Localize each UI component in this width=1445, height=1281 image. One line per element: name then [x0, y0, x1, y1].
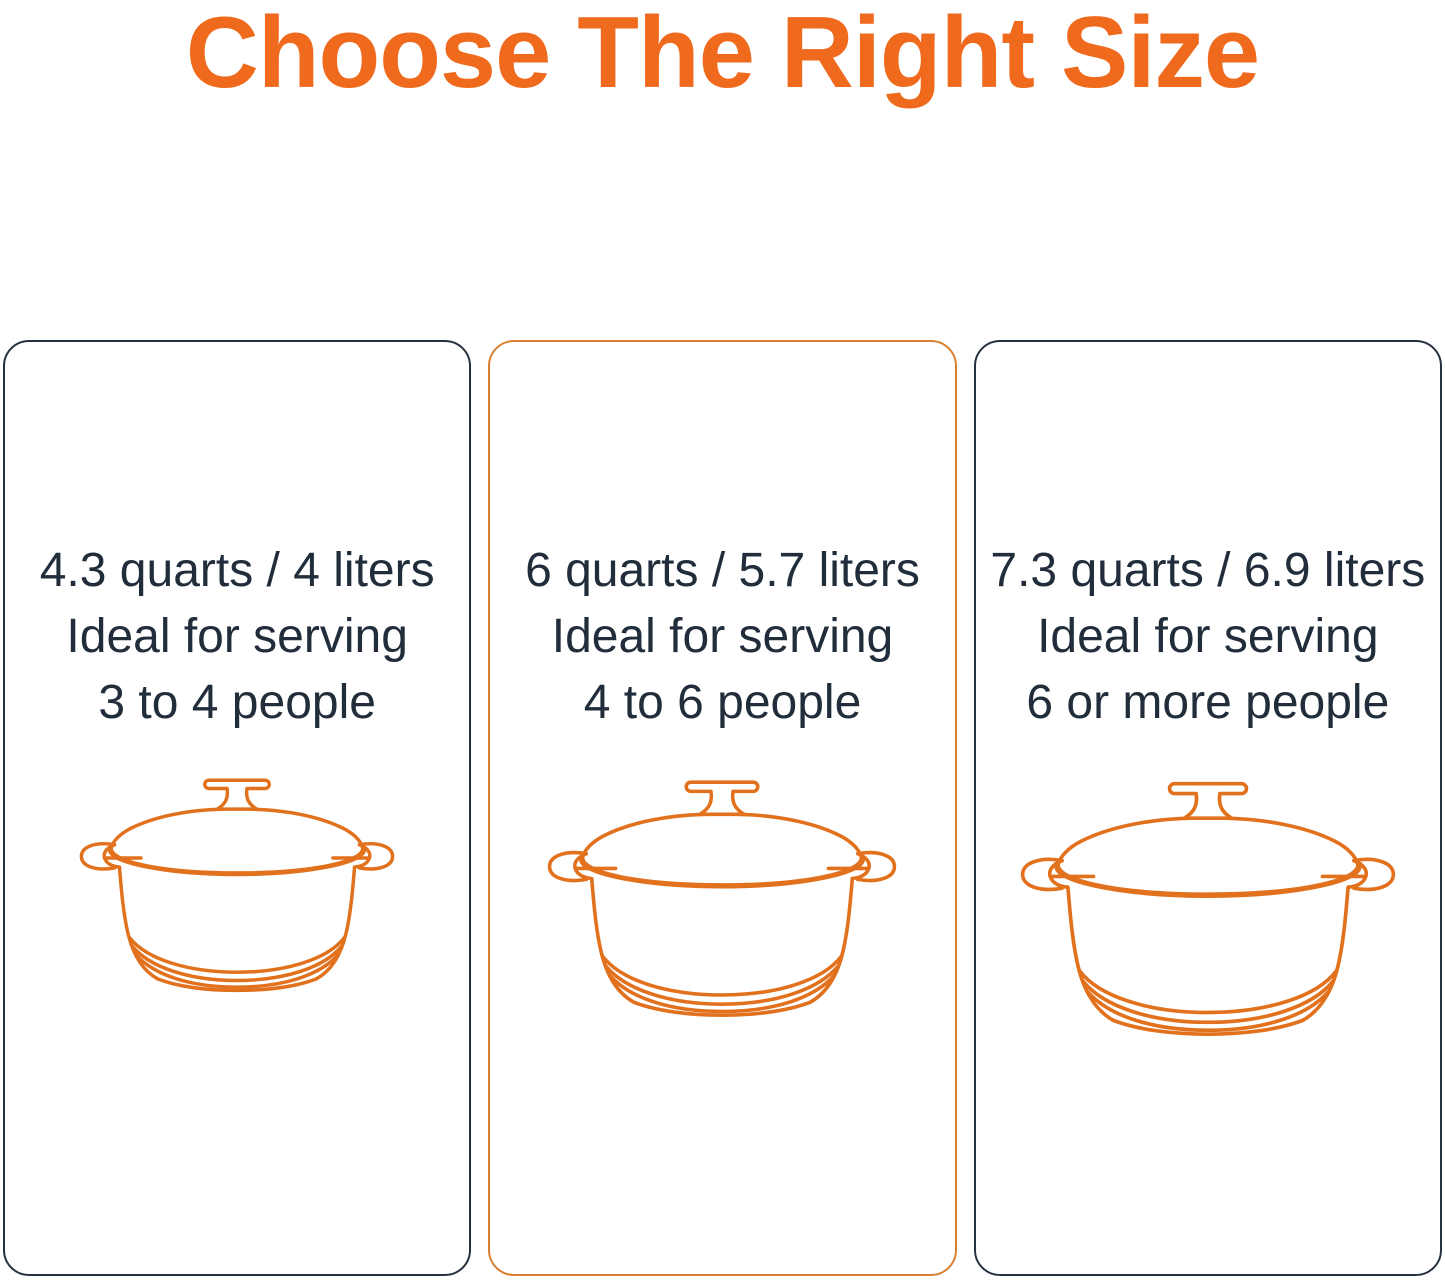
dutch-oven-icon — [62, 762, 412, 1002]
size-card-large[interactable]: 7.3 quarts / 6.9 liters Ideal for servin… — [974, 340, 1442, 1276]
serving-count-label: 3 to 4 people — [5, 670, 469, 736]
size-card-small[interactable]: 4.3 quarts / 4 liters Ideal for serving … — [3, 340, 471, 1276]
serving-count-label: 6 or more people — [976, 670, 1440, 736]
size-card-small-text: 4.3 quarts / 4 liters Ideal for serving … — [5, 538, 469, 736]
dutch-oven-illustration-medium — [490, 762, 954, 1274]
size-card-row: 4.3 quarts / 4 liters Ideal for serving … — [3, 340, 1442, 1276]
size-guide-infographic: Choose The Right Size 4.3 quarts / 4 lit… — [0, 0, 1445, 1281]
dutch-oven-icon — [528, 762, 916, 1028]
dutch-oven-icon — [1000, 762, 1416, 1048]
dutch-oven-illustration-small — [5, 762, 469, 1274]
serving-label: Ideal for serving — [490, 604, 954, 670]
capacity-label: 4.3 quarts / 4 liters — [5, 538, 469, 604]
capacity-label: 6 quarts / 5.7 liters — [490, 538, 954, 604]
serving-label: Ideal for serving — [5, 604, 469, 670]
serving-label: Ideal for serving — [976, 604, 1440, 670]
page-title: Choose The Right Size — [0, 0, 1445, 112]
size-card-medium-text: 6 quarts / 5.7 liters Ideal for serving … — [490, 538, 954, 736]
capacity-label: 7.3 quarts / 6.9 liters — [976, 538, 1440, 604]
serving-count-label: 4 to 6 people — [490, 670, 954, 736]
size-card-medium[interactable]: 6 quarts / 5.7 liters Ideal for serving … — [488, 340, 956, 1276]
dutch-oven-illustration-large — [976, 762, 1440, 1274]
size-card-large-text: 7.3 quarts / 6.9 liters Ideal for servin… — [976, 538, 1440, 736]
